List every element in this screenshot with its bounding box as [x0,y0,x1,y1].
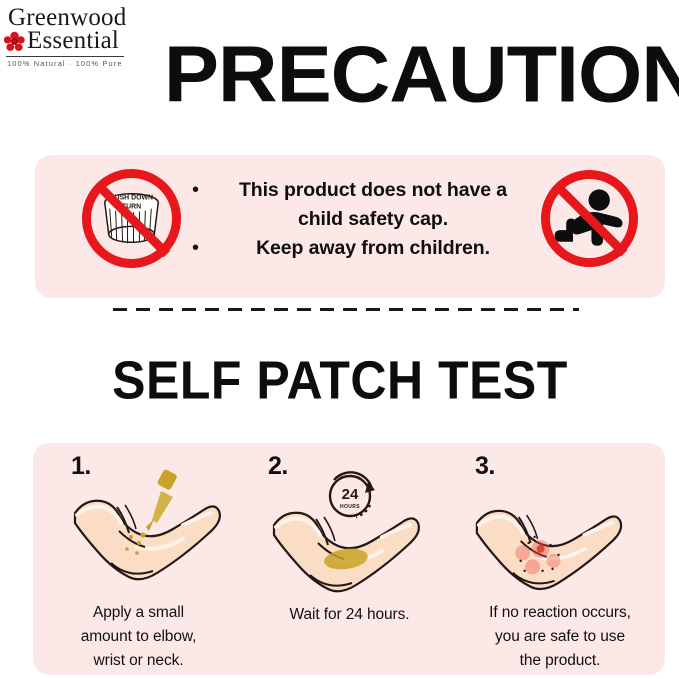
brand-name-line2: Essential [27,28,119,54]
precaution-bullet-list: • This product does not have a child saf… [186,176,526,263]
section-divider [113,308,579,311]
bullet-text-line1: This product does not have a [220,176,526,205]
bullet-item-2: • Keep away from children. [186,234,526,263]
brand-divider [6,56,124,57]
elbow-with-24-hours-clock-icon: 24 HOURS [244,467,455,597]
patch-test-title: SELF PATCH TEST [60,350,620,410]
no-children-icon [541,170,638,267]
bullet-text-line2: child safety cap. [186,205,526,234]
patch-test-step-3: 3. [455,443,665,675]
flower-icon [4,31,25,52]
patch-test-step-2: 2. 24 HOURS Wait f [244,443,455,675]
step-caption: Apply a small amount to elbow, wrist or … [37,601,240,673]
bullet-item-1: • This product does not have a [186,176,526,205]
badge-unit: HOURS [340,504,360,510]
dropper-icon [140,469,177,538]
bullet-text-line1: Keep away from children. [220,234,526,263]
precaution-patch-test-infographic: Greenwood Essential 100% Natural · 100% … [0,0,679,679]
precaution-title: PRECAUTION [164,33,558,115]
bullet-marker: • [186,234,220,263]
step-caption: Wait for 24 hours. [248,603,451,627]
24-hours-badge: 24 HOURS [330,472,375,517]
bullet-marker: • [186,176,220,205]
brand-logo: Greenwood Essential 100% Natural · 100% … [4,4,126,68]
patch-test-step-1: 1. Apply a [33,443,244,675]
elbow-with-dropper-icon [33,467,244,597]
brand-tagline: 100% Natural · 100% Pure [4,59,126,68]
badge-value: 24 [342,486,359,503]
no-child-safety-cap-icon: PUSH DOWN TURN [82,169,181,268]
step-caption: If no reaction occurs, you are safe to u… [459,601,661,673]
elbow-with-rash-icon [455,467,665,597]
